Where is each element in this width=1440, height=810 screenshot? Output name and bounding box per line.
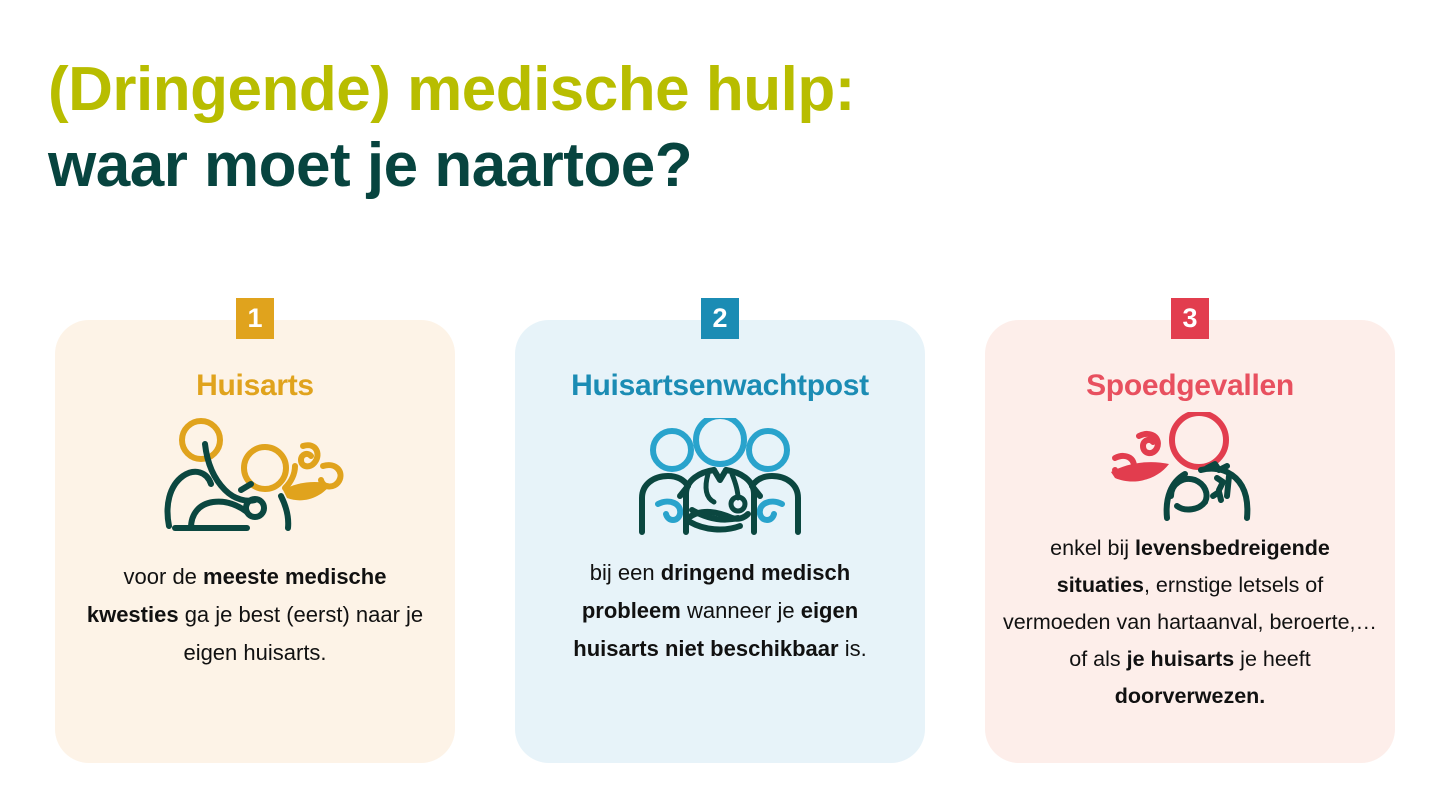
text-segment: is. [839, 636, 867, 661]
text-segment: wanneer je [681, 598, 801, 623]
text-segment: ga je best (eerst) naar je eigen huisart… [179, 602, 424, 665]
card-body-text: bij een dringend medisch probleem wannee… [515, 554, 925, 668]
text-segment-bold: doorverwezen. [1115, 684, 1266, 708]
card-huisartsenwachtpost[interactable]: 2 Huisartsenwachtpost [515, 320, 925, 763]
card-huisarts[interactable]: 1 Huisarts [55, 320, 455, 763]
page-title: (Dringende) medische hulp: waar moet je … [48, 52, 1248, 204]
text-segment: je heeft [1234, 647, 1311, 671]
card-title: Spoedgevallen [1086, 368, 1294, 404]
card-spoedgevallen[interactable]: 3 Spoedgevallen [985, 320, 1395, 763]
doctor-examining-patient-icon [155, 418, 355, 536]
card-title: Huisartsenwachtpost [571, 368, 869, 404]
card-number-badge: 1 [236, 298, 274, 339]
page-title-line-2: waar moet je naartoe? [48, 128, 1248, 204]
card-title: Huisarts [196, 368, 314, 404]
text-segment: voor de [124, 564, 204, 589]
card-number-badge: 3 [1171, 298, 1209, 339]
card-number-badge: 2 [701, 298, 739, 339]
three-doctors-group-icon [630, 418, 810, 536]
text-segment: enkel bij [1050, 536, 1135, 560]
card-body-text: enkel bij levensbedreigende situaties, e… [985, 530, 1395, 715]
person-chest-pain-icon [1095, 412, 1285, 522]
infographic-page: (Dringende) medische hulp: waar moet je … [0, 0, 1440, 810]
cards-row: 1 Huisarts [55, 320, 1395, 763]
text-segment: bij een [590, 560, 661, 585]
card-body-text: voor de meeste medische kwesties ga je b… [55, 558, 455, 672]
text-segment-bold: je huisarts [1127, 647, 1235, 671]
page-title-line-1: (Dringende) medische hulp: [48, 52, 1248, 128]
